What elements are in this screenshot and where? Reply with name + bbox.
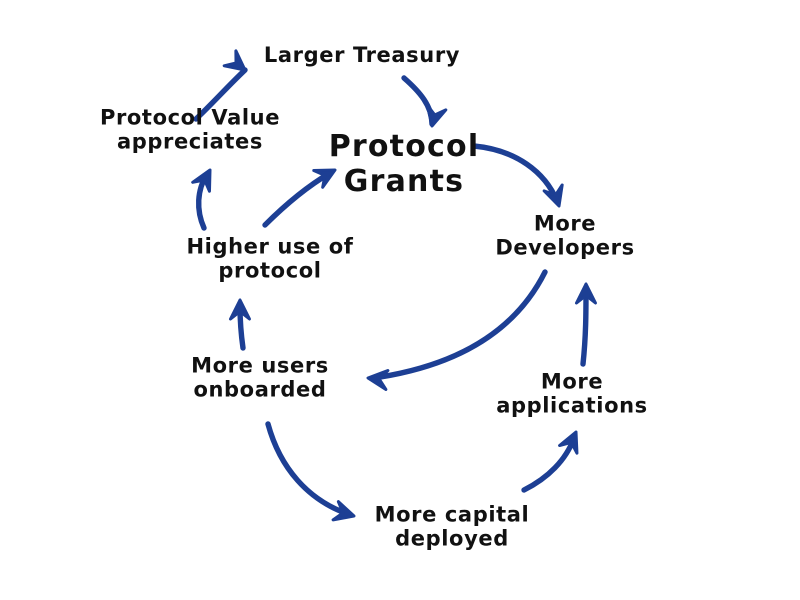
arrow-grants-to-developers-icon — [474, 146, 568, 209]
arrow-users-to-capital-icon — [268, 424, 357, 525]
node-label-line: Developers — [495, 236, 634, 260]
arrow-higher-use-to-value-icon — [193, 166, 219, 228]
node-higher-use-of-protocol: Higher use ofprotocol — [186, 235, 353, 284]
arrow-treasury-to-grants-icon — [404, 78, 446, 128]
node-more-developers: MoreDevelopers — [495, 212, 634, 261]
arrow-users-to-higher-use-icon — [231, 300, 250, 348]
node-more-users-onboarded: More usersonboarded — [191, 354, 329, 403]
node-label-line: applications — [496, 394, 648, 418]
node-label-line: More capital — [375, 503, 530, 527]
node-more-capital-deployed: More capitaldeployed — [375, 503, 530, 552]
node-larger-treasury: Larger Treasury — [264, 43, 460, 67]
arrow-capital-to-applications-icon — [524, 428, 585, 490]
node-label-line: protocol — [186, 259, 353, 283]
node-label-line: deployed — [375, 527, 530, 551]
node-label-line: Grants — [329, 165, 480, 200]
node-label-line: Protocol — [329, 130, 480, 165]
node-label-line: More — [495, 212, 634, 236]
flywheel-diagram: Larger TreasuryProtocol Valueappreciates… — [0, 0, 800, 600]
node-label-line: More — [496, 370, 648, 394]
node-label-line: More users — [191, 354, 329, 378]
node-protocol-grants: ProtocolGrants — [329, 130, 480, 200]
node-label-line: Protocol Value — [100, 106, 280, 130]
node-label-line: appreciates — [100, 130, 280, 154]
node-label-line: Larger Treasury — [264, 43, 460, 67]
node-label-line: Higher use of — [186, 235, 353, 259]
node-label-line: onboarded — [191, 378, 329, 402]
node-more-applications: Moreapplications — [496, 370, 648, 419]
arrow-applications-to-developers-icon — [577, 284, 596, 364]
node-protocol-value-appreciates: Protocol Valueappreciates — [100, 106, 280, 155]
